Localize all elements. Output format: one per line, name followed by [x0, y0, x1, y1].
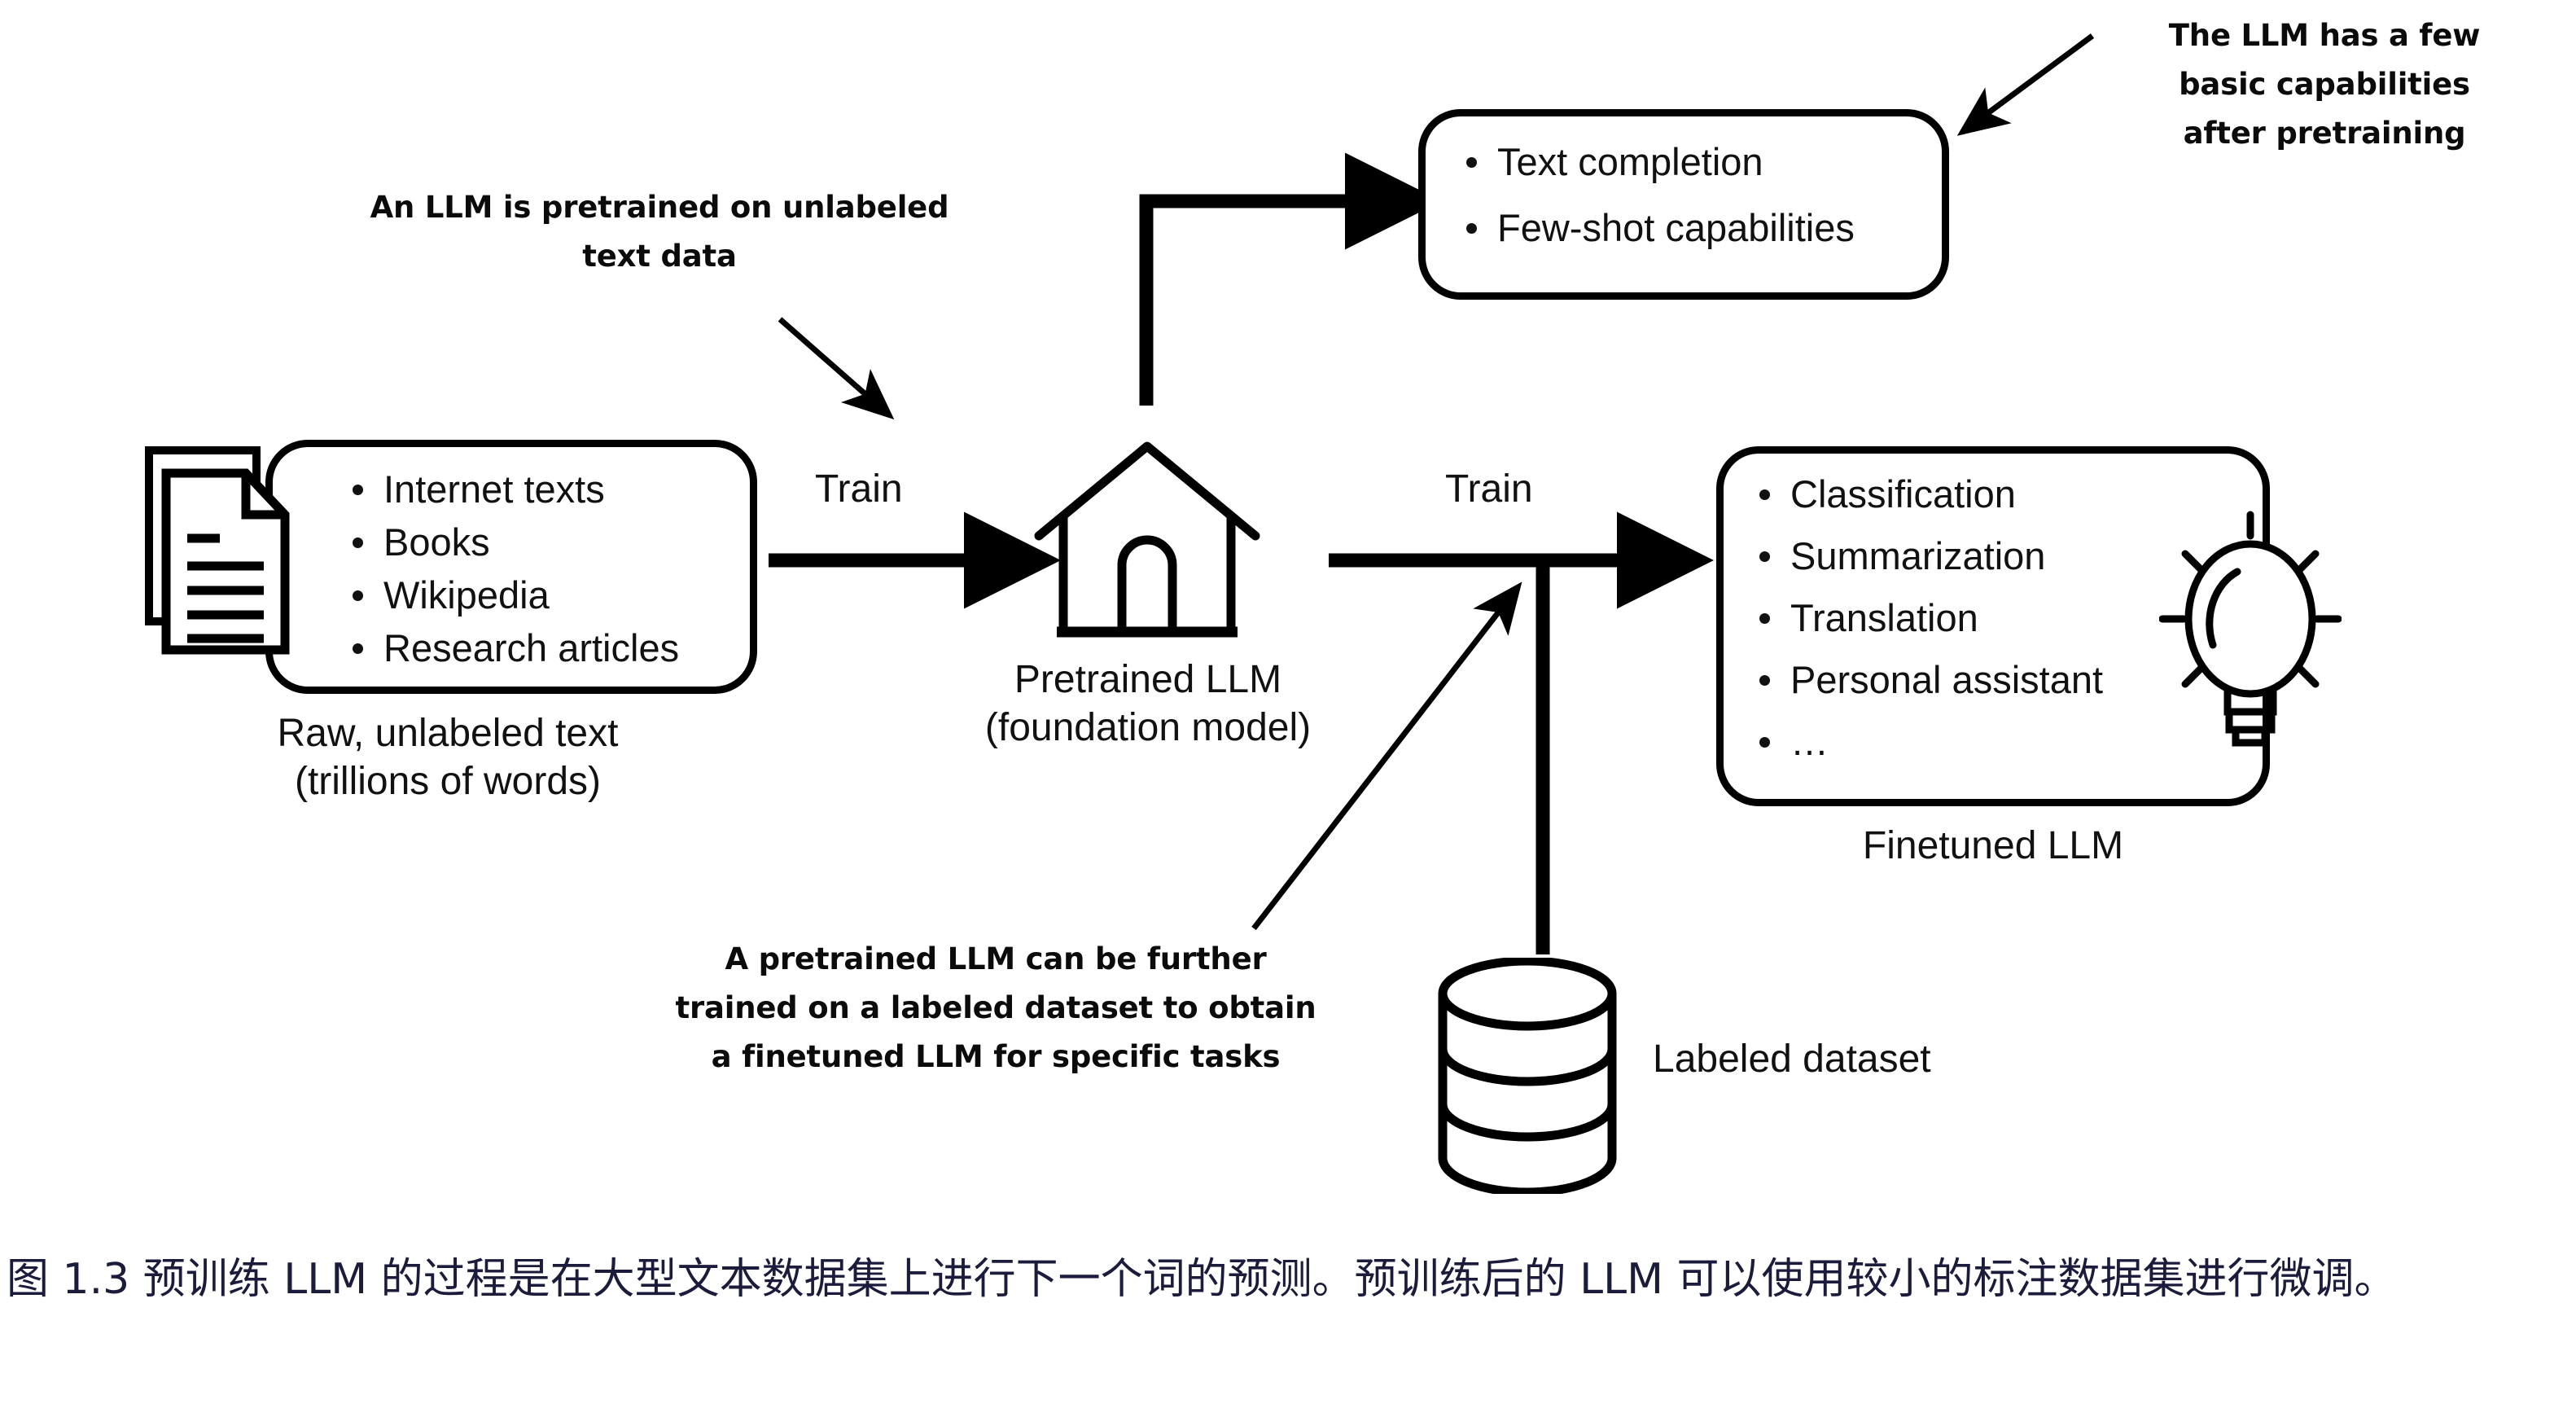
pretrained-llm-caption: Pretrained LLM (foundation model) [887, 656, 1408, 752]
finetune-note-line2: trained on a labeled dataset to obtain [643, 984, 1348, 1033]
pretrain-note-line2: text data [342, 232, 977, 281]
capabilities-note: The LLM has a few basic capabilities aft… [2084, 11, 2565, 158]
figure-canvas: Internet texts Books Wikipedia Research … [0, 0, 2576, 1404]
raw-text-caption: Raw, unlabeled text (trillions of words) [147, 710, 749, 805]
list-item: Classification [1748, 475, 2103, 513]
pretrained-llm-caption-line1: Pretrained LLM [887, 656, 1408, 704]
capabilities-note-line2: basic capabilities [2084, 60, 2565, 109]
arrow-house-to-capabilities [1146, 201, 1373, 406]
dataset-caption: Labeled dataset [1653, 1036, 2076, 1084]
lightbulb-icon [2159, 508, 2342, 761]
list-item: Wikipedia [341, 576, 679, 614]
arrow-train-2 [1329, 560, 1645, 954]
finetune-note: A pretrained LLM can be further trained … [643, 935, 1348, 1082]
capabilities-note-line3: after pretraining [2084, 109, 2565, 158]
list-item: Summarization [1748, 537, 2103, 575]
list-item: Text completion [1455, 143, 1855, 181]
list-item: Few-shot capabilities [1455, 208, 1855, 247]
finetune-note-line1: A pretrained LLM can be further [643, 935, 1348, 984]
raw-text-caption-line2: (trillions of words) [147, 758, 749, 806]
finetuned-llm-caption: Finetuned LLM [1733, 823, 2254, 871]
database-icon [1433, 958, 1622, 1194]
list-item: Books [341, 523, 679, 561]
arrow-note-to-capabilities [1980, 36, 2092, 119]
finetune-note-line3: a finetuned LLM for specific tasks [643, 1033, 1348, 1082]
capabilities-box: Text completion Few-shot capabilities [1418, 109, 1949, 300]
arrow-note-to-finetune [1254, 604, 1505, 928]
list-item: … [1748, 722, 2103, 761]
raw-text-bullet-list: Internet texts Books Wikipedia Research … [341, 470, 679, 667]
raw-text-box: Internet texts Books Wikipedia Research … [265, 440, 757, 694]
pretrain-note: An LLM is pretrained on unlabeled text d… [342, 183, 977, 281]
figure-caption: 图 1.3 预训练 LLM 的过程是在大型文本数据集上进行下一个词的预测。预训练… [7, 1250, 2571, 1310]
list-item: Research articles [341, 629, 679, 667]
list-item: Internet texts [341, 470, 679, 508]
capabilities-note-line1: The LLM has a few [2084, 11, 2565, 60]
train-label-1: Train [815, 467, 903, 511]
capabilities-bullet-list: Text completion Few-shot capabilities [1455, 143, 1855, 247]
pretrained-llm-caption-line2: (foundation model) [887, 704, 1408, 752]
list-item: Translation [1748, 599, 2103, 637]
train-label-2: Train [1445, 467, 1533, 511]
documents-icon [145, 446, 313, 665]
finetuned-bullet-list: Classification Summarization Translation… [1748, 475, 2103, 761]
list-item: Personal assistant [1748, 660, 2103, 699]
arrow-note-to-source [780, 319, 873, 401]
house-icon [1032, 440, 1262, 643]
pretrain-note-line1: An LLM is pretrained on unlabeled [342, 183, 977, 232]
raw-text-caption-line1: Raw, unlabeled text [147, 710, 749, 758]
